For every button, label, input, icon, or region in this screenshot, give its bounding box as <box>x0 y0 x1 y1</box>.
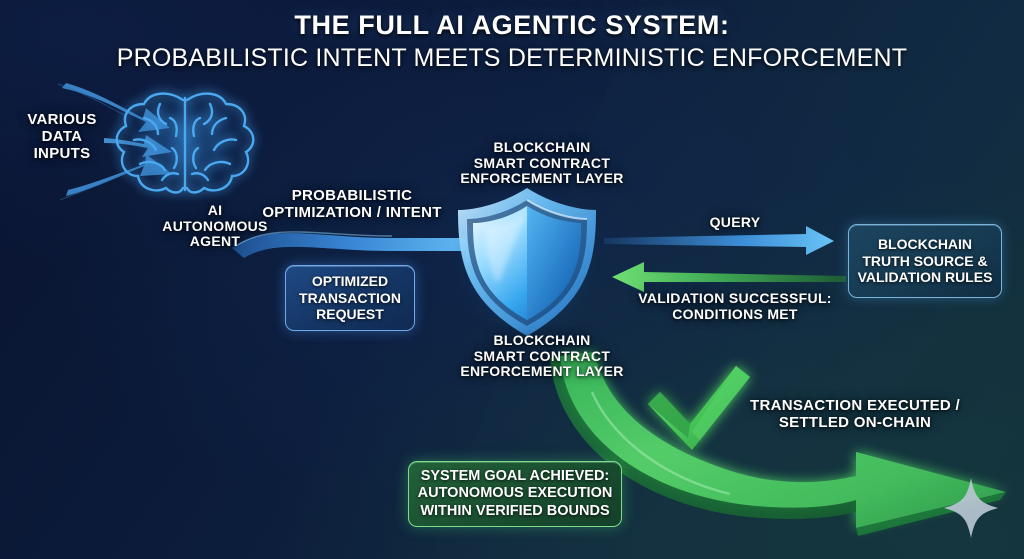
node-optimized-transaction-request: OPTIMIZED TRANSACTION REQUEST <box>285 265 415 331</box>
node-blockchain-truth-source: BLOCKCHAIN TRUTH SOURCE & VALIDATION RUL… <box>848 224 1002 298</box>
page-title: THE FULL AI AGENTIC SYSTEM: <box>0 10 1024 40</box>
shield-icon-group <box>449 182 605 342</box>
label-various-data-inputs: VARIOUS DATA INPUTS <box>6 112 118 162</box>
diagram-canvas: THE FULL AI AGENTIC SYSTEM: PROBABILISTI… <box>0 0 1024 559</box>
node-system-goal-achieved: SYSTEM GOAL ACHIEVED: AUTONOMOUS EXECUTI… <box>408 461 622 527</box>
brain-icon-group <box>107 74 263 206</box>
label-enforcement-layer-top: BLOCKCHAIN SMART CONTRACT ENFORCEMENT LA… <box>430 140 654 187</box>
page-subtitle: PROBABILISTIC INTENT MEETS DETERMINISTIC… <box>0 44 1024 72</box>
label-transaction-executed: TRANSACTION EXECUTED / SETTLED ON-CHAIN <box>726 398 984 432</box>
label-query: QUERY <box>660 215 810 231</box>
label-enforcement-layer-bottom: BLOCKCHAIN SMART CONTRACT ENFORCEMENT LA… <box>430 333 654 380</box>
label-probabilistic-optimization: PROBABILISTIC OPTIMIZATION / INTENT <box>250 188 454 222</box>
label-validation-successful: VALIDATION SUCCESSFUL: CONDITIONS MET <box>622 291 848 322</box>
